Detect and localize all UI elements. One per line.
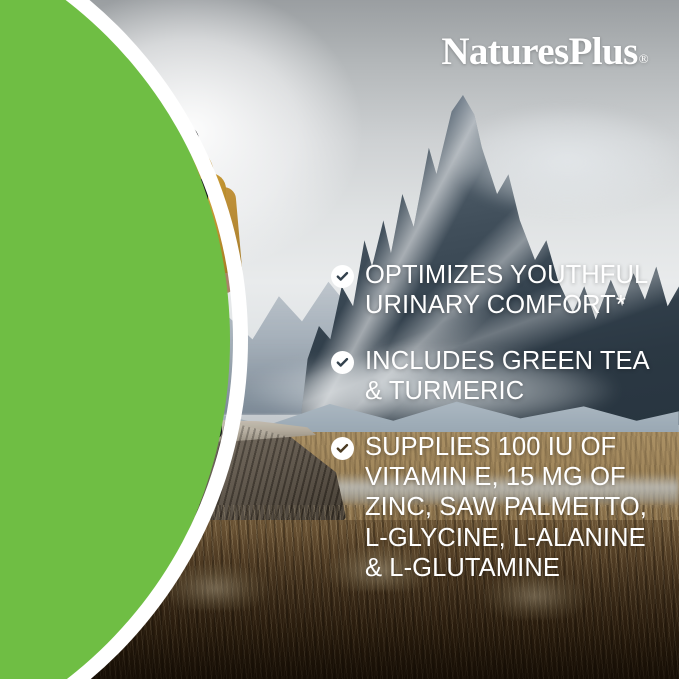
list-item-label: SUPPLIES 100 IU OF VITAMIN E, 15 MG OF Z… bbox=[365, 432, 647, 582]
list-item-label: INCLUDES GREEN TEA & TURMERIC bbox=[365, 346, 650, 406]
check-circle-icon bbox=[331, 437, 354, 460]
feature-bullet-list: OPTIMIZES YOUTHFUL URINARY COMFORT* INCL… bbox=[331, 260, 661, 609]
list-item: SUPPLIES 100 IU OF VITAMIN E, 15 MG OF Z… bbox=[331, 432, 661, 582]
brand-logo: NaturesPlus® bbox=[441, 32, 647, 71]
product-banner: NaturesPlus® OPTIMIZES YOUTHFUL URINARY … bbox=[0, 0, 679, 679]
check-circle-icon bbox=[331, 265, 354, 288]
registered-trademark-icon: ® bbox=[639, 51, 648, 66]
brand-logo-text: NaturesPlus bbox=[441, 30, 637, 73]
list-item: OPTIMIZES YOUTHFUL URINARY COMFORT* bbox=[331, 260, 661, 320]
list-item: INCLUDES GREEN TEA & TURMERIC bbox=[331, 346, 661, 406]
check-circle-icon bbox=[331, 351, 354, 374]
list-item-label: OPTIMIZES YOUTHFUL URINARY COMFORT* bbox=[365, 260, 648, 320]
